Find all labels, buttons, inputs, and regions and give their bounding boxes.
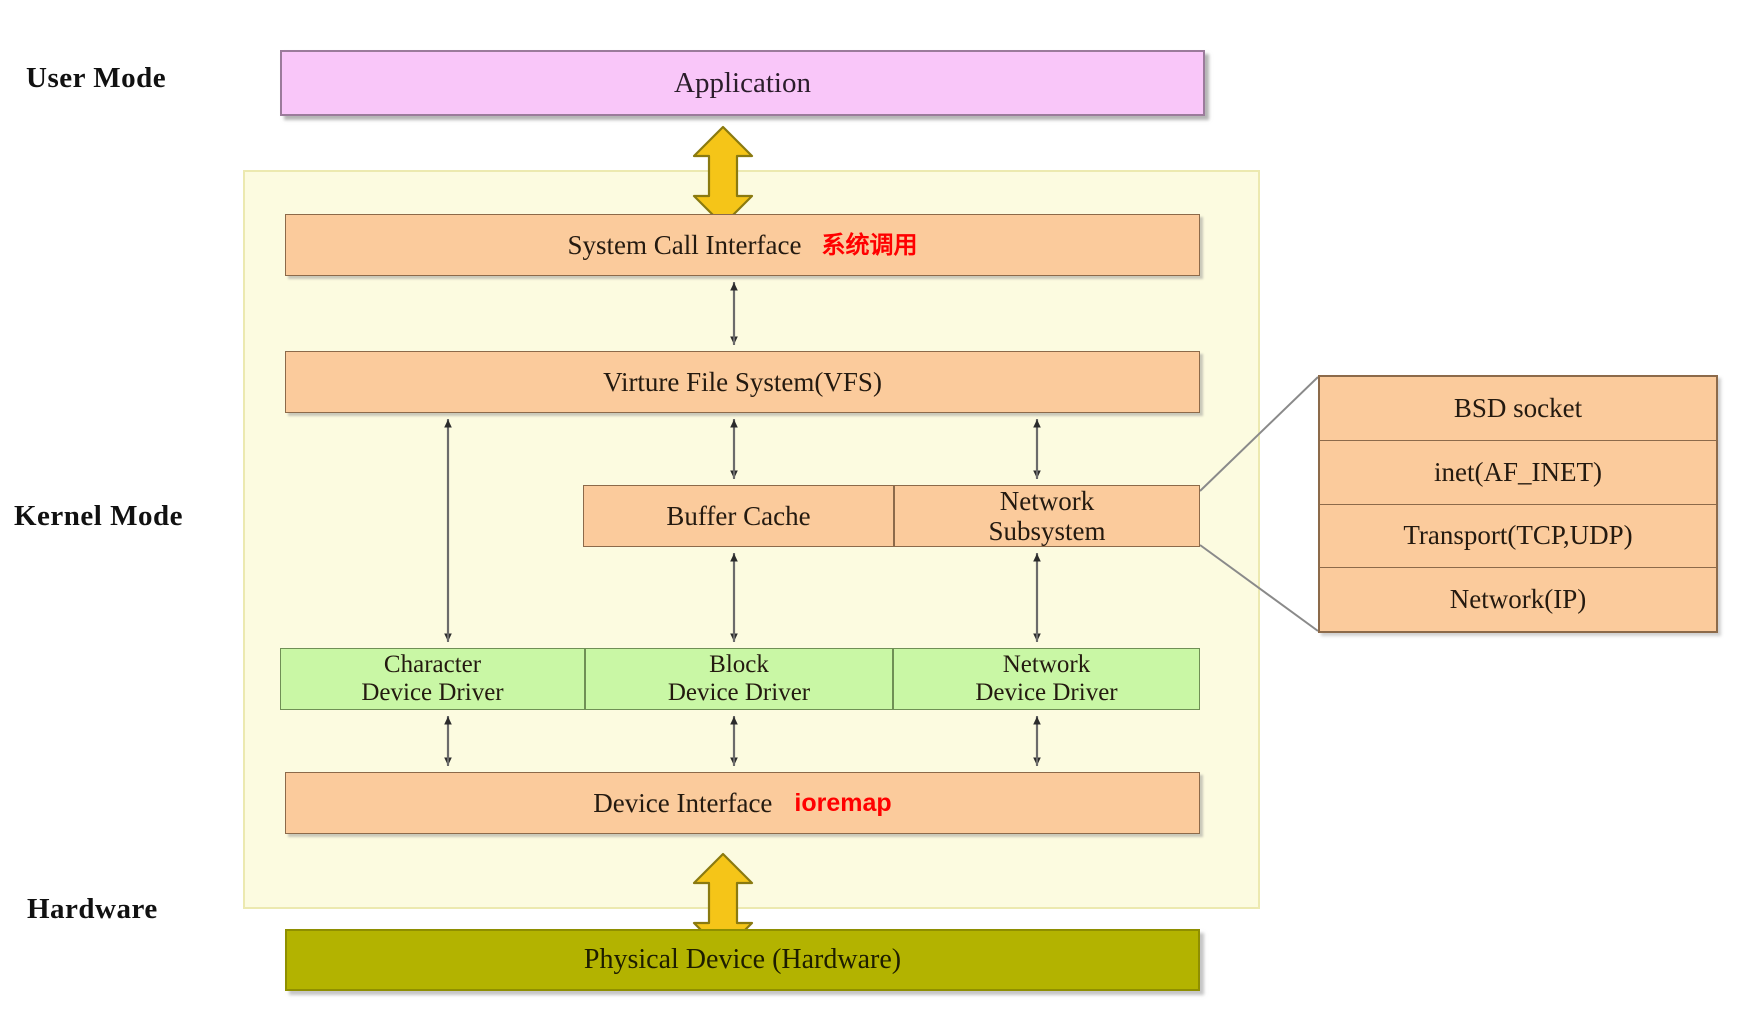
annotation-ioremap: ioremap (794, 789, 891, 817)
box-physical-device[interactable]: Physical Device (Hardware) (285, 929, 1200, 991)
callout-row-transport[interactable]: Transport(TCP,UDP) (1320, 505, 1716, 569)
box-virtual-file-system[interactable]: Virture File System(VFS) (285, 351, 1200, 413)
box-network-subsystem-label-line1: Network (1000, 486, 1094, 516)
box-block-device-driver[interactable]: Block Device Driver (585, 648, 893, 710)
box-block-device-driver-label-line2: Device Driver (668, 679, 810, 707)
mode-label-hardware: Hardware (27, 893, 158, 926)
callout-row-network-ip[interactable]: Network(IP) (1320, 568, 1716, 631)
box-network-device-driver-label-line1: Network (1003, 651, 1090, 679)
box-buffer-cache[interactable]: Buffer Cache (583, 485, 894, 547)
callout-row-inet[interactable]: inet(AF_INET) (1320, 441, 1716, 505)
box-application-label: Application (674, 67, 811, 99)
box-character-device-driver[interactable]: Character Device Driver (280, 648, 585, 710)
box-application[interactable]: Application (280, 50, 1205, 116)
box-virtual-file-system-label: Virture File System(VFS) (603, 367, 882, 397)
box-network-subsystem[interactable]: Network Subsystem (894, 485, 1200, 547)
box-network-subsystem-label-line2: Subsystem (988, 516, 1105, 546)
box-character-device-driver-label-line2: Device Driver (361, 679, 503, 707)
mode-label-kernel: Kernel Mode (14, 500, 183, 533)
box-buffer-cache-label: Buffer Cache (666, 501, 810, 531)
box-network-device-driver-label-line2: Device Driver (975, 679, 1117, 707)
network-stack-callout-panel: BSD socket inet(AF_INET) Transport(TCP,U… (1318, 375, 1718, 633)
diagram-canvas: User Mode Kernel Mode Hardware Applicati… (0, 0, 1751, 1013)
callout-row-inet-label: inet(AF_INET) (1434, 457, 1602, 488)
callout-row-network-ip-label: Network(IP) (1450, 584, 1586, 615)
box-network-device-driver[interactable]: Network Device Driver (893, 648, 1200, 710)
box-character-device-driver-label-line1: Character (384, 651, 481, 679)
mode-label-user: User Mode (26, 62, 166, 95)
box-block-device-driver-label-line1: Block (709, 651, 769, 679)
callout-row-bsd-socket-label: BSD socket (1454, 393, 1582, 424)
box-physical-device-label: Physical Device (Hardware) (584, 944, 901, 975)
box-system-call-interface[interactable]: System Call Interface 系统调用 (285, 214, 1200, 276)
callout-row-bsd-socket[interactable]: BSD socket (1320, 377, 1716, 441)
box-device-interface[interactable]: Device Interface ioremap (285, 772, 1200, 834)
box-system-call-interface-label: System Call Interface (568, 230, 802, 260)
callout-row-transport-label: Transport(TCP,UDP) (1403, 520, 1632, 551)
box-device-interface-label: Device Interface (593, 788, 772, 818)
annotation-system-call-chinese: 系统调用 (821, 232, 917, 259)
